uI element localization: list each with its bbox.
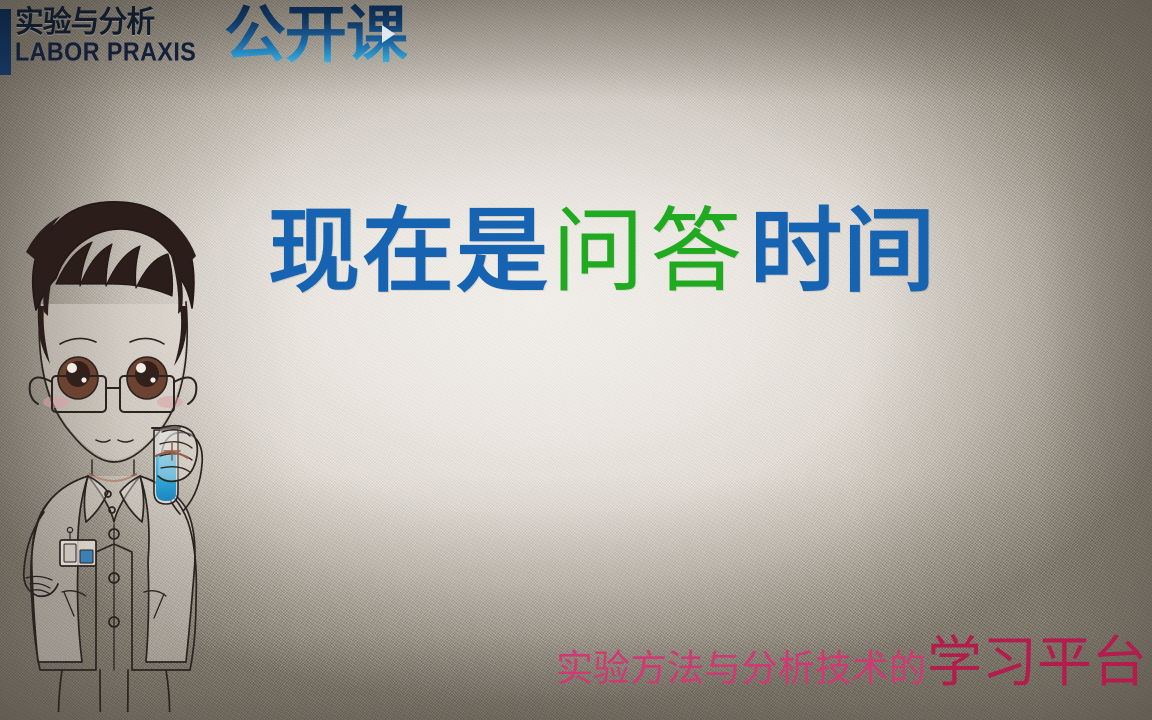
logo-course-label: 公开课 xyxy=(224,2,407,68)
tagline: 实验方法与分析技术的 学习平台 xyxy=(556,634,1147,690)
logo-accent-bar xyxy=(0,9,11,75)
mascot-illustration xyxy=(4,192,216,712)
play-triangle-icon xyxy=(382,25,395,43)
mascot-right-hand xyxy=(156,426,197,482)
logo-name-cn: 实验与分析 xyxy=(15,8,202,38)
logo-name-en: LABOR PRAXIS xyxy=(15,38,196,65)
logo-course-text: 公开课 xyxy=(224,0,407,71)
scientist-mascot xyxy=(4,192,216,712)
mascot-blush-left xyxy=(43,396,69,408)
mascot-legs xyxy=(58,670,169,712)
tagline-big-text: 学习平台 xyxy=(927,634,1147,690)
mascot-lab-coat xyxy=(31,476,196,670)
mascot-blush-right xyxy=(157,396,183,408)
headline-segment-2: 问答 xyxy=(552,200,748,304)
logo-wordmark: 实验与分析 LABOR PRAXIS xyxy=(15,8,210,65)
tagline-small-text: 实验方法与分析技术的 xyxy=(556,648,926,690)
brand-logo: 实验与分析 LABOR PRAXIS 公开课 xyxy=(0,4,407,75)
slide-canvas: 实验与分析 LABOR PRAXIS 公开课 现在是 问答 时间 实验方法与分析… xyxy=(0,0,1152,720)
headline: 现在是 问答 时间 xyxy=(268,200,936,304)
headline-segment-1: 现在是 xyxy=(268,200,550,304)
headline-segment-3: 时间 xyxy=(750,200,936,304)
